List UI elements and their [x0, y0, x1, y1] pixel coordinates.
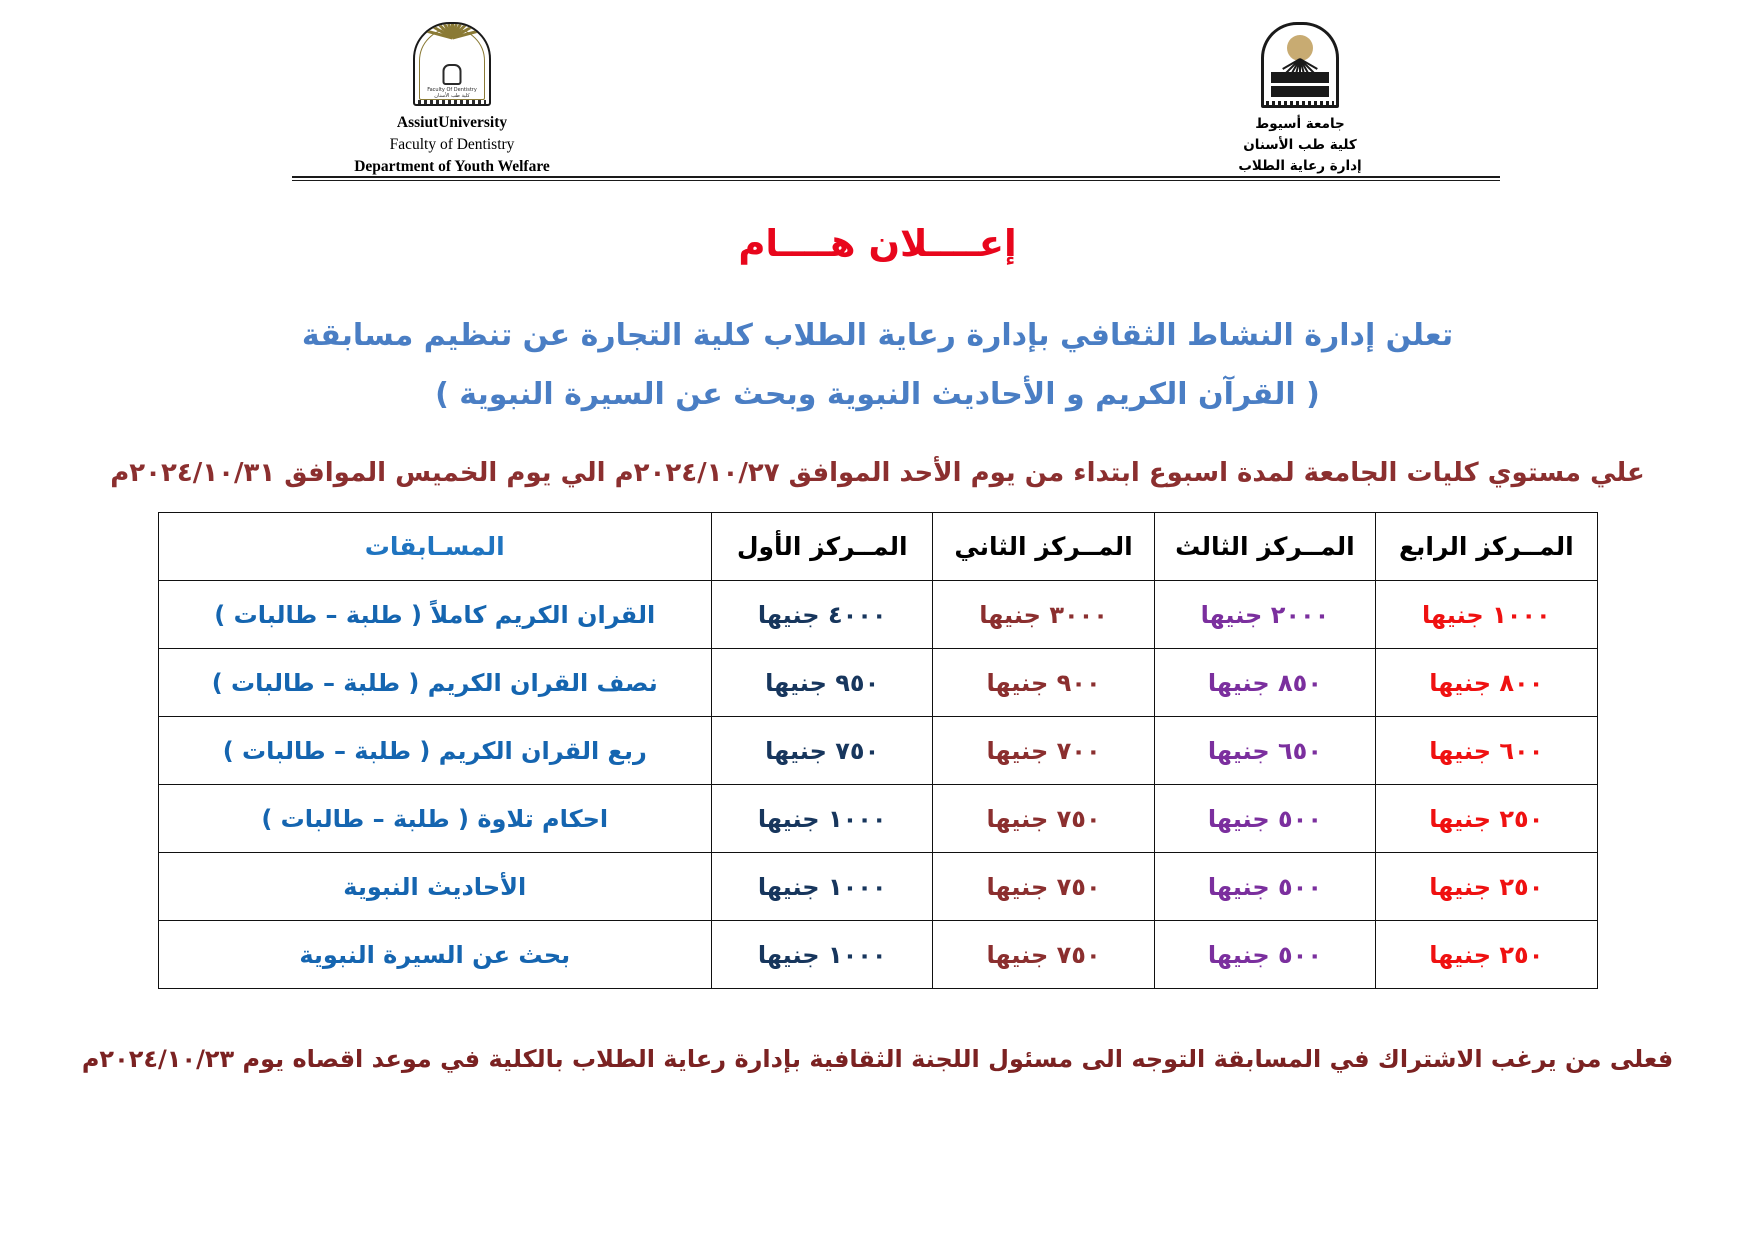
competition-name-cell: القران الكريم كاملاً ( طلبة – طالبات ) [158, 581, 712, 649]
prize-third-cell: ٦٥٠ جنيها [1154, 717, 1375, 785]
faculty-of-dentistry-logo-icon: Faculty Of Dentistry كلية طب الأسنان [413, 22, 491, 106]
header-left-block: Faculty Of Dentistry كلية طب الأسنان Ass… [292, 22, 612, 178]
header-faculty-en: Faculty of Dentistry [292, 134, 612, 156]
column-header-second-place: المــركز الثاني [933, 513, 1154, 581]
prize-fourth-cell: ٢٥٠ جنيها [1376, 785, 1597, 853]
prize-second-cell: ٣٠٠٠ جنيها [933, 581, 1154, 649]
prize-fourth-cell: ١٠٠٠ جنيها [1376, 581, 1597, 649]
announcement-footer-note: فعلى من يرغب الاشتراك في المسابقة التوجه… [60, 1045, 1695, 1073]
header-department-en: Department of Youth Welfare [292, 156, 612, 178]
prize-second-cell: ٧٥٠ جنيها [933, 785, 1154, 853]
prize-first-cell: ١٠٠٠ جنيها [712, 853, 933, 921]
prize-first-cell: ١٠٠٠ جنيها [712, 785, 933, 853]
prize-third-cell: ٥٠٠ جنيها [1154, 853, 1375, 921]
dentistry-logo-caption-ar: كلية طب الأسنان [415, 93, 489, 99]
header-university-ar: جامعة أسيوط [1140, 114, 1460, 135]
column-header-fourth-place: المــركز الرابع [1376, 513, 1597, 581]
table-row: ٨٠٠ جنيها٨٥٠ جنيها٩٠٠ جنيها٩٥٠ جنيهانصف … [158, 649, 1597, 717]
header-english-lines: AssiutUniversity Faculty of Dentistry De… [292, 112, 612, 178]
competition-name-cell: ربع القران الكريم ( طلبة – طالبات ) [158, 717, 712, 785]
table-row: ٢٥٠ جنيها٥٠٠ جنيها٧٥٠ جنيها١٠٠٠ جنيهاالأ… [158, 853, 1597, 921]
competition-name-cell: احكام تلاوة ( طلبة – طالبات ) [158, 785, 712, 853]
page-title: إعــــلان هــــام [0, 222, 1755, 265]
announcement-paragraph-line-2: ( القرآن الكريم و الأحاديث النبوية وبحث … [150, 366, 1605, 425]
prize-first-cell: ١٠٠٠ جنيها [712, 921, 933, 989]
prize-second-cell: ٧٠٠ جنيها [933, 717, 1154, 785]
prizes-table: المــركز الرابع المــركز الثالث المــركز… [158, 512, 1598, 989]
prize-third-cell: ٥٠٠ جنيها [1154, 785, 1375, 853]
prize-second-cell: ٧٥٠ جنيها [933, 853, 1154, 921]
column-header-third-place: المــركز الثالث [1154, 513, 1375, 581]
prize-first-cell: ٤٠٠٠ جنيها [712, 581, 933, 649]
announcement-schedule-line: علي مستوي كليات الجامعة لمدة اسبوع ابتدا… [40, 458, 1715, 488]
header-right-block: جامعة أسيوط كلية طب الأسنان إدارة رعاية … [1140, 22, 1460, 177]
header-university-en: AssiutUniversity [292, 112, 612, 134]
prize-third-cell: ٥٠٠ جنيها [1154, 921, 1375, 989]
column-header-competitions: المسـابقات [158, 513, 712, 581]
table-row: ٢٥٠ جنيها٥٠٠ جنيها٧٥٠ جنيها١٠٠٠ جنيهابحث… [158, 921, 1597, 989]
prize-third-cell: ٨٥٠ جنيها [1154, 649, 1375, 717]
assiut-university-logo-icon [1261, 22, 1339, 108]
competition-name-cell: بحث عن السيرة النبوية [158, 921, 712, 989]
announcement-paragraph: تعلن إدارة النشاط الثقافي بإدارة رعاية ا… [150, 307, 1605, 424]
table-row: ٦٠٠ جنيها٦٥٠ جنيها٧٠٠ جنيها٧٥٠ جنيهاربع … [158, 717, 1597, 785]
column-header-first-place: المــركز الأول [712, 513, 933, 581]
header-divider [292, 176, 1500, 181]
prize-fourth-cell: ٨٠٠ جنيها [1376, 649, 1597, 717]
table-row: ٢٥٠ جنيها٥٠٠ جنيها٧٥٠ جنيها١٠٠٠ جنيهااحك… [158, 785, 1597, 853]
table-row: ١٠٠٠ جنيها٢٠٠٠ جنيها٣٠٠٠ جنيها٤٠٠٠ جنيها… [158, 581, 1597, 649]
prize-first-cell: ٩٥٠ جنيها [712, 649, 933, 717]
announcement-paragraph-line-1: تعلن إدارة النشاط الثقافي بإدارة رعاية ا… [150, 307, 1605, 366]
prize-fourth-cell: ٢٥٠ جنيها [1376, 853, 1597, 921]
competition-name-cell: الأحاديث النبوية [158, 853, 712, 921]
prize-first-cell: ٧٥٠ جنيها [712, 717, 933, 785]
announcement-page: Faculty Of Dentistry كلية طب الأسنان Ass… [0, 0, 1755, 1241]
header-department-ar: إدارة رعاية الطلاب [1140, 156, 1460, 177]
table-header-row: المــركز الرابع المــركز الثالث المــركز… [158, 513, 1597, 581]
prize-second-cell: ٧٥٠ جنيها [933, 921, 1154, 989]
header-arabic-lines: جامعة أسيوط كلية طب الأسنان إدارة رعاية … [1140, 114, 1460, 177]
prize-fourth-cell: ٢٥٠ جنيها [1376, 921, 1597, 989]
prize-second-cell: ٩٠٠ جنيها [933, 649, 1154, 717]
prize-third-cell: ٢٠٠٠ جنيها [1154, 581, 1375, 649]
page-header: Faculty Of Dentistry كلية طب الأسنان Ass… [0, 0, 1755, 178]
prize-fourth-cell: ٦٠٠ جنيها [1376, 717, 1597, 785]
header-faculty-ar: كلية طب الأسنان [1140, 135, 1460, 156]
competition-name-cell: نصف القران الكريم ( طلبة – طالبات ) [158, 649, 712, 717]
